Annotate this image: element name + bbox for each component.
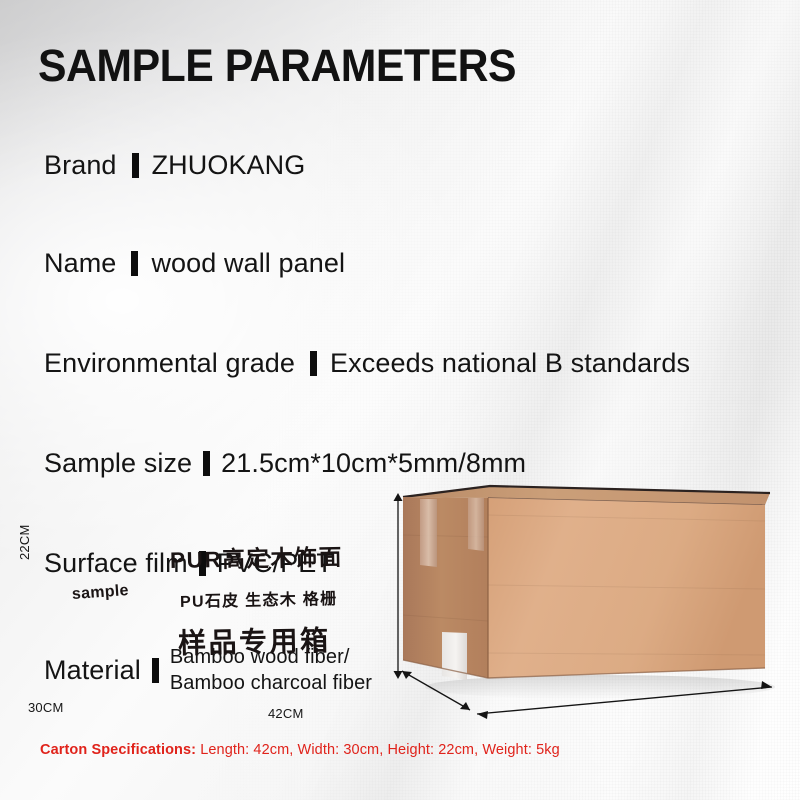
carton-illustration (360, 475, 790, 740)
spec-value-brand: ZHUOKANG (152, 150, 306, 181)
dimension-label-depth: 30CM (28, 700, 63, 715)
spec-row-environmental-grade: Environmental grade Exceeds national B s… (44, 348, 690, 379)
spec-separator-bar (152, 658, 159, 683)
spec-separator-bar (203, 451, 210, 476)
spec-separator-bar (132, 153, 139, 178)
carton-ground-shadow (425, 675, 775, 699)
carton-front-text-line-3: 样品专用箱 (178, 619, 331, 662)
carton-specifications-note: Carton Specifications: Length: 42cm, Wid… (40, 742, 560, 758)
spec-separator-bar (310, 351, 317, 376)
page-title: SAMPLE PARAMETERS (38, 40, 516, 92)
carton-svg (360, 475, 790, 740)
spec-value-name: wood wall panel (151, 248, 345, 279)
spec-label-environmental-grade: Environmental grade (44, 348, 295, 379)
carton-front-text-line-2: PU石皮 生态木 格栅 (180, 585, 338, 612)
carton-note-lead: Carton Specifications: (40, 742, 196, 758)
dimension-label-height: 22CM (17, 525, 32, 560)
carton-side-text: sample (71, 582, 129, 604)
spec-label-surface-film: Surface film (44, 548, 188, 579)
spec-value-environmental-grade: Exceeds national B standards (330, 348, 690, 379)
dimension-label-width: 42CM (268, 706, 303, 721)
carton-tape-strip (420, 499, 437, 567)
spec-label-sample-size: Sample size (44, 448, 192, 479)
sample-parameters-page: SAMPLE PARAMETERS Brand ZHUOKANG Name wo… (0, 0, 800, 800)
spec-separator-bar (131, 251, 138, 276)
spec-label-name: Name (44, 248, 116, 279)
spec-value-material-line-2: Bamboo charcoal fiber (170, 672, 372, 694)
carton-note-details: Length: 42cm, Width: 30cm, Height: 22cm,… (196, 742, 560, 758)
spec-label-material: Material (44, 655, 141, 686)
spec-label-brand: Brand (44, 150, 117, 181)
carton-tape-tab (468, 498, 484, 551)
spec-row-name: Name wood wall panel (44, 248, 345, 279)
carton-front-text-line-1: PUR高定木饰面 (170, 540, 343, 575)
spec-row-brand: Brand ZHUOKANG (44, 150, 305, 181)
